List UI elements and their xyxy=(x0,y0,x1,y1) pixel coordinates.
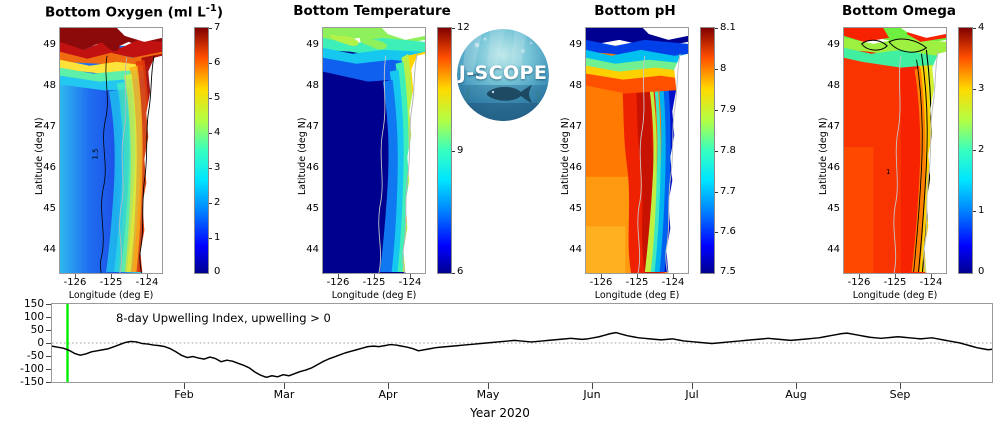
cbar-label-ph-8.1: 8.1 xyxy=(720,22,736,33)
ytick-oxygen-44: 44 xyxy=(28,244,56,255)
ytick-temp-46: 46 xyxy=(291,162,319,173)
cbar-label-ph-7.7: 7.7 xyxy=(720,186,736,197)
cbtick-ph-78 xyxy=(715,151,718,152)
ts-xtick-jul: Jul xyxy=(662,388,722,401)
ts-xtick-aug: Aug xyxy=(766,388,826,401)
upwelling-index-chart: 150 100 50 0 -50 -100 -150 8-day Upwelli… xyxy=(0,292,1000,430)
colorbar-omega-gradient xyxy=(959,28,972,273)
cbar-label-omega-4: 4 xyxy=(978,22,984,33)
panel-bottom-temperature: Bottom Temperature Latitude (deg N) 49 4… xyxy=(285,0,465,292)
ts-xtick-jun: Jun xyxy=(562,388,622,401)
cbar-label-omega-3: 3 xyxy=(978,83,984,94)
ytick-omega-47: 47 xyxy=(812,121,840,132)
map-ph-canvas xyxy=(586,28,688,273)
xtick-temp-124: -124 xyxy=(389,277,431,288)
cbtick-ph-80 xyxy=(715,69,718,70)
ts-ytick--150: -150 xyxy=(2,376,44,388)
map-oxygen-canvas xyxy=(60,28,162,273)
map-temperature-canvas xyxy=(323,28,425,273)
ytick-omega-46: 46 xyxy=(812,162,840,173)
ytick-oxygen-48: 48 xyxy=(28,80,56,91)
cbar-label-oxygen-4: 4 xyxy=(214,127,220,138)
colorbar-temperature xyxy=(437,27,452,274)
ytick-ph-48: 48 xyxy=(554,80,582,91)
ts-ytick--100: -100 xyxy=(2,363,44,375)
cbtick-om-4 xyxy=(973,28,976,29)
ytick-temp-45: 45 xyxy=(291,203,319,214)
panel-title-temperature: Bottom Temperature xyxy=(287,3,457,19)
cbar-label-omega-2: 2 xyxy=(978,144,984,155)
panel-title-oxygen-tail: ) xyxy=(217,5,223,21)
cbtick-ox-4 xyxy=(209,133,212,134)
ytick-oxygen-49: 49 xyxy=(28,39,56,50)
cbtick-tp-6 xyxy=(452,273,455,274)
ts-xtick-may: May xyxy=(458,388,518,401)
figure-root: Bottom Oxygen (ml L-1) Latitude (deg N) … xyxy=(0,0,1000,430)
ytick-ph-44: 44 xyxy=(554,244,582,255)
ts-xtick-sep: Sep xyxy=(870,388,930,401)
colorbar-oxygen xyxy=(194,27,209,274)
panel-bottom-ph: Bottom pH Latitude (deg N) 49 48 47 46 4… xyxy=(550,0,750,292)
panel-title-ph-main: Bottom pH xyxy=(594,3,675,19)
cbtick-ox-7 xyxy=(209,28,212,29)
contour-label-omega: 1 xyxy=(886,168,890,176)
ytick-temp-44: 44 xyxy=(291,244,319,255)
cbtick-tp-9 xyxy=(452,151,455,152)
ts-ytick--50: -50 xyxy=(2,350,44,362)
cbar-label-ph-7.8: 7.8 xyxy=(720,145,736,156)
cbar-label-ph-7.6: 7.6 xyxy=(720,226,736,237)
ytick-omega-48: 48 xyxy=(812,80,840,91)
cbtick-ph-79 xyxy=(715,110,718,111)
j-scope-logo: J-SCOPE xyxy=(457,29,549,121)
ts-ytick-0: 0 xyxy=(2,337,44,349)
panel-title-temperature-main: Bottom Temperature xyxy=(293,3,451,19)
cbar-label-omega-0: 0 xyxy=(978,266,984,277)
ytick-oxygen-45: 45 xyxy=(28,203,56,214)
cbar-label-ph-7.5: 7.5 xyxy=(720,266,736,277)
cbar-label-oxygen-7: 7 xyxy=(214,22,220,33)
colorbar-temperature-gradient xyxy=(438,28,451,273)
contour-label-oxygen: 1.5 xyxy=(91,148,99,159)
ytick-temp-48: 48 xyxy=(291,80,319,91)
xtick-omega-124: -124 xyxy=(910,277,952,288)
ytick-omega-49: 49 xyxy=(812,39,840,50)
cbar-label-temperature-6: 6 xyxy=(457,266,463,277)
ytick-ph-47: 47 xyxy=(554,121,582,132)
cbar-label-ph-8: 8 xyxy=(720,63,726,74)
panel-title-oxygen-main: Bottom Oxygen (ml L xyxy=(45,5,206,21)
cbar-label-oxygen-1: 1 xyxy=(214,232,220,243)
ytick-temp-49: 49 xyxy=(291,39,319,50)
map-omega-canvas xyxy=(844,28,946,273)
cbar-label-oxygen-2: 2 xyxy=(214,197,220,208)
panel-title-ph: Bottom pH xyxy=(550,3,720,19)
j-scope-logo-text: J-SCOPE xyxy=(457,62,549,84)
ts-xtick-mar: Mar xyxy=(254,388,314,401)
cbtick-ox-1 xyxy=(209,238,212,239)
cbtick-ox-6 xyxy=(209,63,212,64)
ytick-ph-45: 45 xyxy=(554,203,582,214)
xtick-ph-124: -124 xyxy=(652,277,694,288)
cbar-label-oxygen-5: 5 xyxy=(214,92,220,103)
map-bottom-omega[interactable] xyxy=(843,27,947,274)
cbtick-ox-5 xyxy=(209,98,212,99)
colorbar-ph-gradient xyxy=(701,28,714,273)
map-panel-row: Bottom Oxygen (ml L-1) Latitude (deg N) … xyxy=(0,0,1000,292)
cbtick-ox-2 xyxy=(209,203,212,204)
cbar-label-ph-7.9: 7.9 xyxy=(720,104,736,115)
cbar-label-omega-1: 1 xyxy=(978,205,984,216)
ts-ytick-50: 50 xyxy=(2,324,44,336)
cbtick-ox-3 xyxy=(209,168,212,169)
panel-title-oxygen-sup: -1 xyxy=(206,3,217,14)
ytick-ph-49: 49 xyxy=(554,39,582,50)
panel-title-omega: Bottom Omega xyxy=(814,3,984,19)
ts-axis-label-year: Year 2020 xyxy=(0,406,1000,420)
cbar-label-oxygen-0: 0 xyxy=(214,266,220,277)
upwelling-index-line xyxy=(52,333,992,378)
colorbar-ph xyxy=(700,27,715,274)
panel-title-oxygen: Bottom Oxygen (ml L-1) xyxy=(34,3,234,21)
map-bottom-temperature[interactable] xyxy=(322,27,426,274)
ts-xtick-feb: Feb xyxy=(154,388,214,401)
cbtick-om-2 xyxy=(973,150,976,151)
panel-title-omega-main: Bottom Omega xyxy=(842,3,956,19)
cbtick-om-1 xyxy=(973,211,976,212)
xtick-oxygen-124: -124 xyxy=(126,277,168,288)
cbar-label-oxygen-6: 6 xyxy=(214,57,220,68)
cbar-label-oxygen-3: 3 xyxy=(214,162,220,173)
ytick-oxygen-46: 46 xyxy=(28,162,56,173)
panel-bottom-oxygen: Bottom Oxygen (ml L-1) Latitude (deg N) … xyxy=(20,0,235,292)
ts-ytick-100: 100 xyxy=(2,311,44,323)
cbtick-om-3 xyxy=(973,89,976,90)
panel-bottom-omega: Bottom Omega Latitude (deg N) 49 48 47 4… xyxy=(808,0,1000,292)
ts-ytick-150: 150 xyxy=(2,298,44,310)
ts-annotation: 8-day Upwelling Index, upwelling > 0 xyxy=(116,311,331,325)
colorbar-omega xyxy=(958,27,973,274)
cbtick-ph-77 xyxy=(715,192,718,193)
ytick-oxygen-47: 47 xyxy=(28,121,56,132)
ytick-ph-46: 46 xyxy=(554,162,582,173)
colorbar-oxygen-gradient xyxy=(195,28,208,273)
cbar-label-temperature-9: 9 xyxy=(457,145,463,156)
ts-xtick-apr: Apr xyxy=(358,388,418,401)
ytick-temp-47: 47 xyxy=(291,121,319,132)
map-bottom-oxygen[interactable] xyxy=(59,27,163,274)
cbtick-ph-81 xyxy=(715,28,718,29)
cbtick-ph-76 xyxy=(715,232,718,233)
cbar-label-temperature-12: 12 xyxy=(457,22,470,33)
ytick-omega-44: 44 xyxy=(812,244,840,255)
cbtick-tp-12 xyxy=(452,28,455,29)
ytick-omega-45: 45 xyxy=(812,203,840,214)
map-bottom-ph[interactable] xyxy=(585,27,689,274)
